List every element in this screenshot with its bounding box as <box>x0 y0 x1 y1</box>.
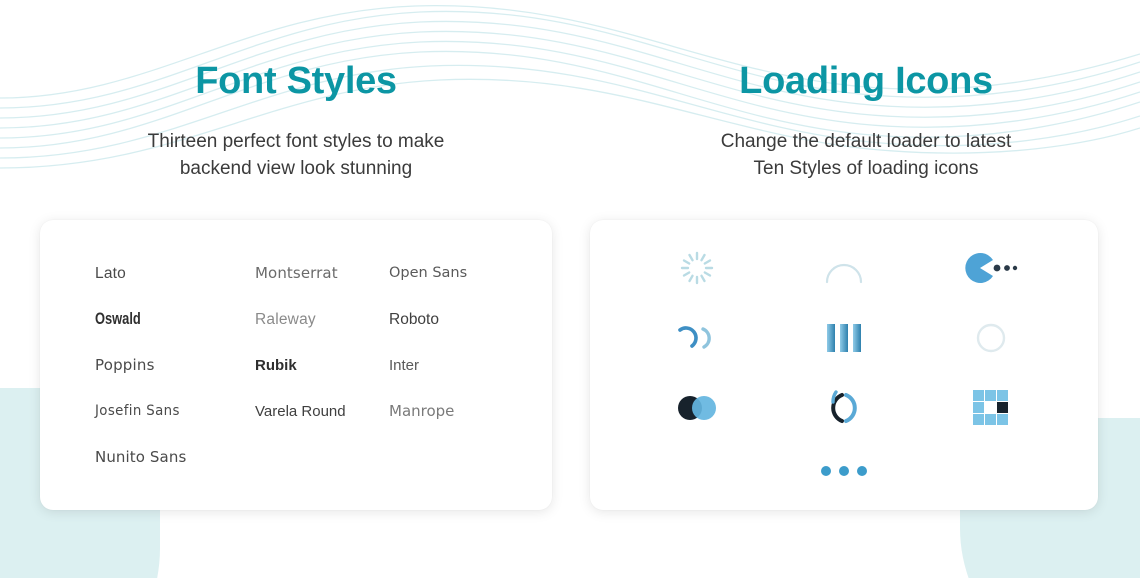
ring-outline-icon <box>973 320 1009 356</box>
loader-cell-8[interactable] <box>771 384 918 432</box>
loading-icons-subheading-line-2: Ten Styles of loading icons <box>592 155 1140 182</box>
three-dots-icon <box>818 463 870 479</box>
double-arc-icon <box>673 320 721 356</box>
loading-icons-card <box>590 220 1098 510</box>
font-styles-heading: Font Styles <box>0 60 592 103</box>
font-item-open-sans[interactable]: Open Sans <box>389 262 515 285</box>
font-item-oswald[interactable]: Oswald <box>95 308 220 331</box>
loader-cell-7[interactable] <box>624 384 771 432</box>
font-item-nunito-sans[interactable]: Nunito Sans <box>95 446 255 469</box>
font-styles-subheading-line-2: backend view look stunning <box>0 155 592 182</box>
loader-cell-10[interactable] <box>590 456 1098 486</box>
font-item-raleway[interactable]: Raleway <box>255 308 389 331</box>
spinner-dashes-icon <box>677 248 717 288</box>
font-item-lato[interactable]: Lato <box>95 262 255 285</box>
loader-cell-3[interactable] <box>917 244 1064 292</box>
loader-cell-1[interactable] <box>624 244 771 292</box>
font-item-poppins[interactable]: Poppins <box>95 354 255 377</box>
font-item-inter[interactable]: Inter <box>389 354 515 377</box>
font-item-roboto[interactable]: Roboto <box>389 308 515 331</box>
font-styles-subheading-line-1: Thirteen perfect font styles to make <box>0 128 592 155</box>
loading-icons-subheading: Change the default loader to latest Ten … <box>592 128 1140 182</box>
loader-cell-5[interactable] <box>771 314 918 362</box>
three-bars-icon <box>823 321 865 355</box>
grid-squares-icon <box>971 388 1011 428</box>
loader-cell-4[interactable] <box>624 314 771 362</box>
loader-cell-2[interactable] <box>771 244 918 292</box>
font-item-josefin-sans[interactable]: Josefin Sans <box>95 400 242 423</box>
loader-cell-6[interactable] <box>917 314 1064 362</box>
font-styles-card: Lato Montserrat Open Sans Oswald Raleway… <box>40 220 552 510</box>
facing-brackets-icon <box>822 388 866 428</box>
loading-icons-heading: Loading Icons <box>592 60 1140 103</box>
loader-icon-grid <box>624 244 1064 432</box>
two-circles-icon <box>673 392 721 424</box>
pacman-dots-icon <box>963 251 1019 285</box>
screenshot-root: Font Styles Thirteen perfect font styles… <box>0 0 1140 578</box>
font-styles-panel: Font Styles Thirteen perfect font styles… <box>0 0 592 578</box>
font-styles-subheading: Thirteen perfect font styles to make bac… <box>0 128 592 182</box>
loading-icons-subheading-line-1: Change the default loader to latest <box>592 128 1140 155</box>
font-item-montserrat[interactable]: Montserrat <box>255 262 389 285</box>
font-list-grid: Lato Montserrat Open Sans Oswald Raleway… <box>95 262 515 469</box>
font-item-rubik[interactable]: Rubik <box>255 354 389 377</box>
font-item-manrope[interactable]: Manrope <box>389 400 515 423</box>
loader-cell-9[interactable] <box>917 384 1064 432</box>
arc-ring-icon <box>822 248 866 288</box>
font-item-varela-round[interactable]: Varela Round <box>255 400 389 423</box>
